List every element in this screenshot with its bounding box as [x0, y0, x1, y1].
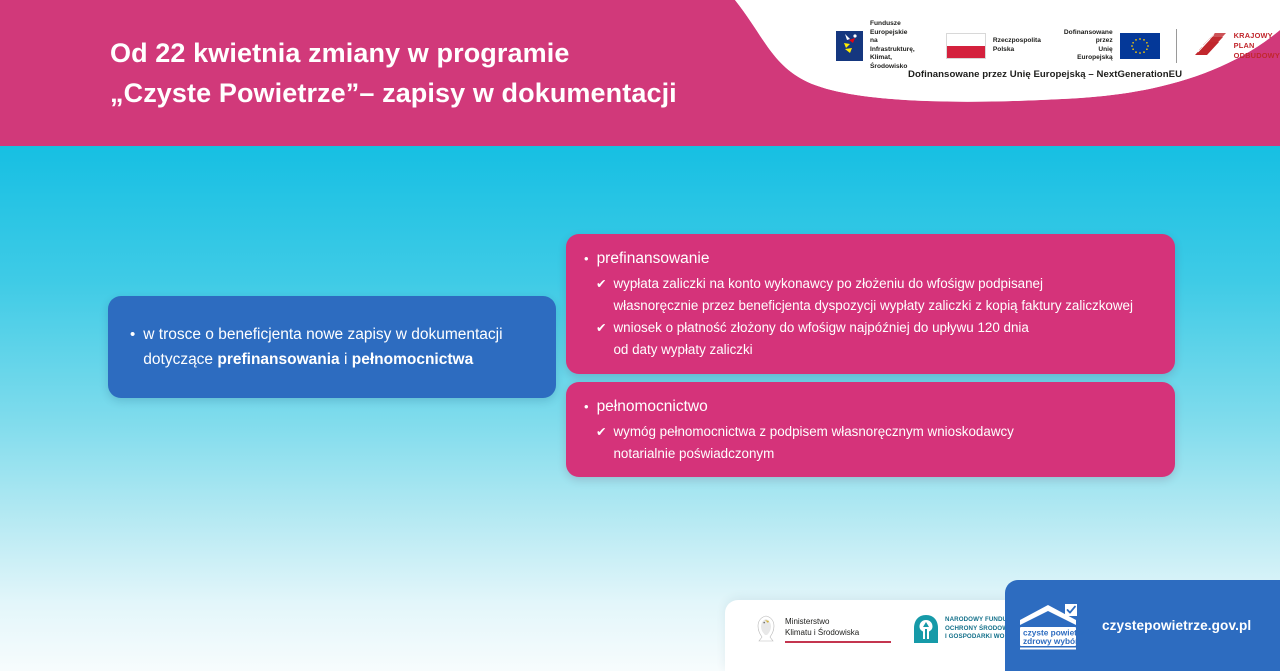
website-url[interactable]: czystepowietrze.gov.pl — [1102, 618, 1251, 633]
fundusze-europejskie-caption: Fundusze Europejskie na Infrastrukturę, … — [870, 20, 924, 72]
footer-logo-row: Ministerstwo Klimatu i Środowiska NARODO… — [753, 614, 1023, 644]
intro-bold-prefinansowania: prefinansowania — [217, 351, 339, 368]
intro-text: w trosce o beneficjenta nowe zapisy w do… — [143, 322, 502, 372]
ministerstwo-klimatu-logo: Ministerstwo Klimatu i Środowiska — [753, 614, 891, 644]
list-item: ✔ wymóg pełnomocnictwa z podpisem własno… — [584, 421, 1157, 465]
list-item-text: wniosek o płatność złożony do wfośigw na… — [613, 317, 1028, 361]
czyste-powietrze-logo-icon: czyste powietrze zdrowy wybór — [1018, 602, 1085, 650]
list-item: ✔ wniosek o płatność złożony do wfośigw … — [584, 317, 1157, 361]
check-icon: ✔ — [596, 421, 606, 443]
bullet-icon: • — [584, 248, 589, 270]
page-title: Od 22 kwietnia zmiany w programie „Czyst… — [110, 33, 677, 113]
logo-divider — [1176, 29, 1177, 63]
bullet-icon: • — [584, 396, 589, 418]
fundusze-europejskie-icon — [836, 31, 863, 61]
card-prefinansowanie: • prefinansowanie ✔ wypłata zaliczki na … — [566, 234, 1175, 374]
krajowy-plan-odbudowy-logo: KRAJOWY PLAN ODBUDOWY — [1193, 31, 1280, 60]
krajowy-plan-odbudowy-caption: KRAJOWY PLAN ODBUDOWY — [1234, 31, 1280, 60]
slide-root: Od 22 kwietnia zmiany w programie „Czyst… — [0, 0, 1280, 671]
rzeczpospolita-polska-logo: Rzeczpospolita Polska — [946, 33, 1041, 59]
intro-text-middle: i — [340, 351, 352, 368]
header-banner: Od 22 kwietnia zmiany w programie „Czyst… — [0, 0, 1280, 146]
rzeczpospolita-polska-caption: Rzeczpospolita Polska — [993, 37, 1041, 54]
poland-flag-icon — [946, 33, 986, 59]
polish-eagle-icon — [753, 614, 779, 644]
card-prefinansowanie-heading-row: • prefinansowanie — [584, 248, 1157, 270]
unia-europejska-logo: Dofinansowane przez Unię Europejską — [1063, 29, 1160, 63]
eu-funding-logo-strip: Fundusze Europejskie na Infrastrukturę, … — [836, 20, 1280, 72]
intro-card-body: • w trosce o beneficjenta nowe zapisy w … — [108, 322, 523, 372]
fundusze-europejskie-logo: Fundusze Europejskie na Infrastrukturę, … — [836, 20, 924, 72]
nfosigw-tree-icon — [913, 615, 939, 643]
kpo-building-icon — [1193, 33, 1227, 59]
intro-bullet-line: • w trosce o beneficjenta nowe zapisy w … — [130, 322, 503, 372]
ministerstwo-underline — [785, 641, 891, 643]
card-pelnomocnictwo-heading: pełnomocnictwo — [597, 396, 708, 418]
card-prefinansowanie-heading: prefinansowanie — [597, 248, 710, 270]
intro-card: • w trosce o beneficjenta nowe zapisy w … — [108, 296, 556, 398]
funding-note: Dofinansowane przez Unię Europejską – Ne… — [908, 69, 1182, 80]
list-item-text: wypłata zaliczki na konto wykonawcy po z… — [613, 273, 1132, 317]
unia-europejska-caption: Dofinansowane przez Unię Europejską — [1063, 29, 1113, 63]
list-item: ✔ wypłata zaliczki na konto wykonawcy po… — [584, 273, 1157, 317]
ministerstwo-caption: Ministerstwo Klimatu i Środowiska — [785, 617, 891, 638]
eu-flag-icon — [1120, 33, 1160, 59]
intro-bold-pelnomocnictwa: pełnomocnictwa — [352, 351, 473, 368]
check-icon: ✔ — [596, 317, 606, 339]
check-icon: ✔ — [596, 273, 606, 295]
bullet-icon: • — [130, 322, 135, 347]
eu-stars-icon — [1120, 33, 1160, 59]
czyste-powietrze-logo-line2: zdrowy wybór — [1023, 636, 1079, 646]
card-pelnomocnictwo: • pełnomocnictwo ✔ wymóg pełnomocnictwa … — [566, 382, 1175, 477]
footer-website-panel: czyste powietrze zdrowy wybór czystepowi… — [1005, 580, 1280, 671]
list-item-text: wymóg pełnomocnictwa z podpisem własnorę… — [613, 421, 1013, 465]
ministerstwo-text-wrap: Ministerstwo Klimatu i Środowiska — [785, 614, 891, 643]
card-pelnomocnictwo-heading-row: • pełnomocnictwo — [584, 396, 1157, 418]
